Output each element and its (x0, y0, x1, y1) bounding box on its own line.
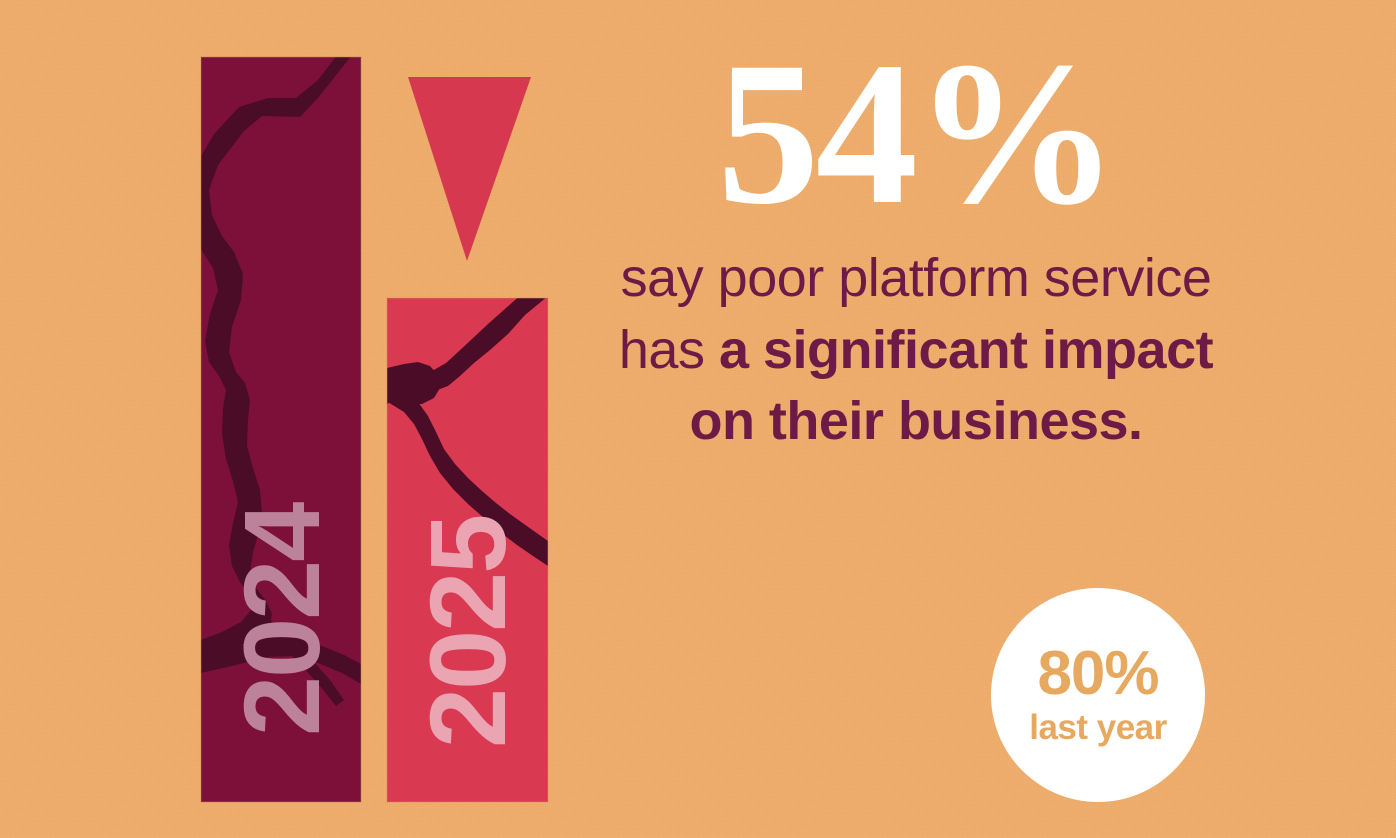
statement-text: say poor platform service has a signific… (616, 243, 1216, 458)
last-year-badge: 80% last year (991, 588, 1205, 802)
headline-percentage: 54% (616, 36, 1216, 233)
statement-emphasis: a significant impact on their business. (689, 320, 1213, 452)
bar-chart: 2024 2025 (0, 0, 620, 838)
statistic-copy-block: 54% say poor platform service has a sign… (616, 36, 1216, 458)
decline-arrow-icon (408, 77, 531, 261)
infographic-canvas: 2024 2025 54% say poor platform service … (0, 0, 1396, 838)
badge-caption: last year (1029, 709, 1167, 748)
bar-label-2024: 2024 (228, 504, 336, 736)
bar-label-2025: 2025 (414, 516, 522, 748)
badge-percentage: 80% (1037, 643, 1158, 705)
